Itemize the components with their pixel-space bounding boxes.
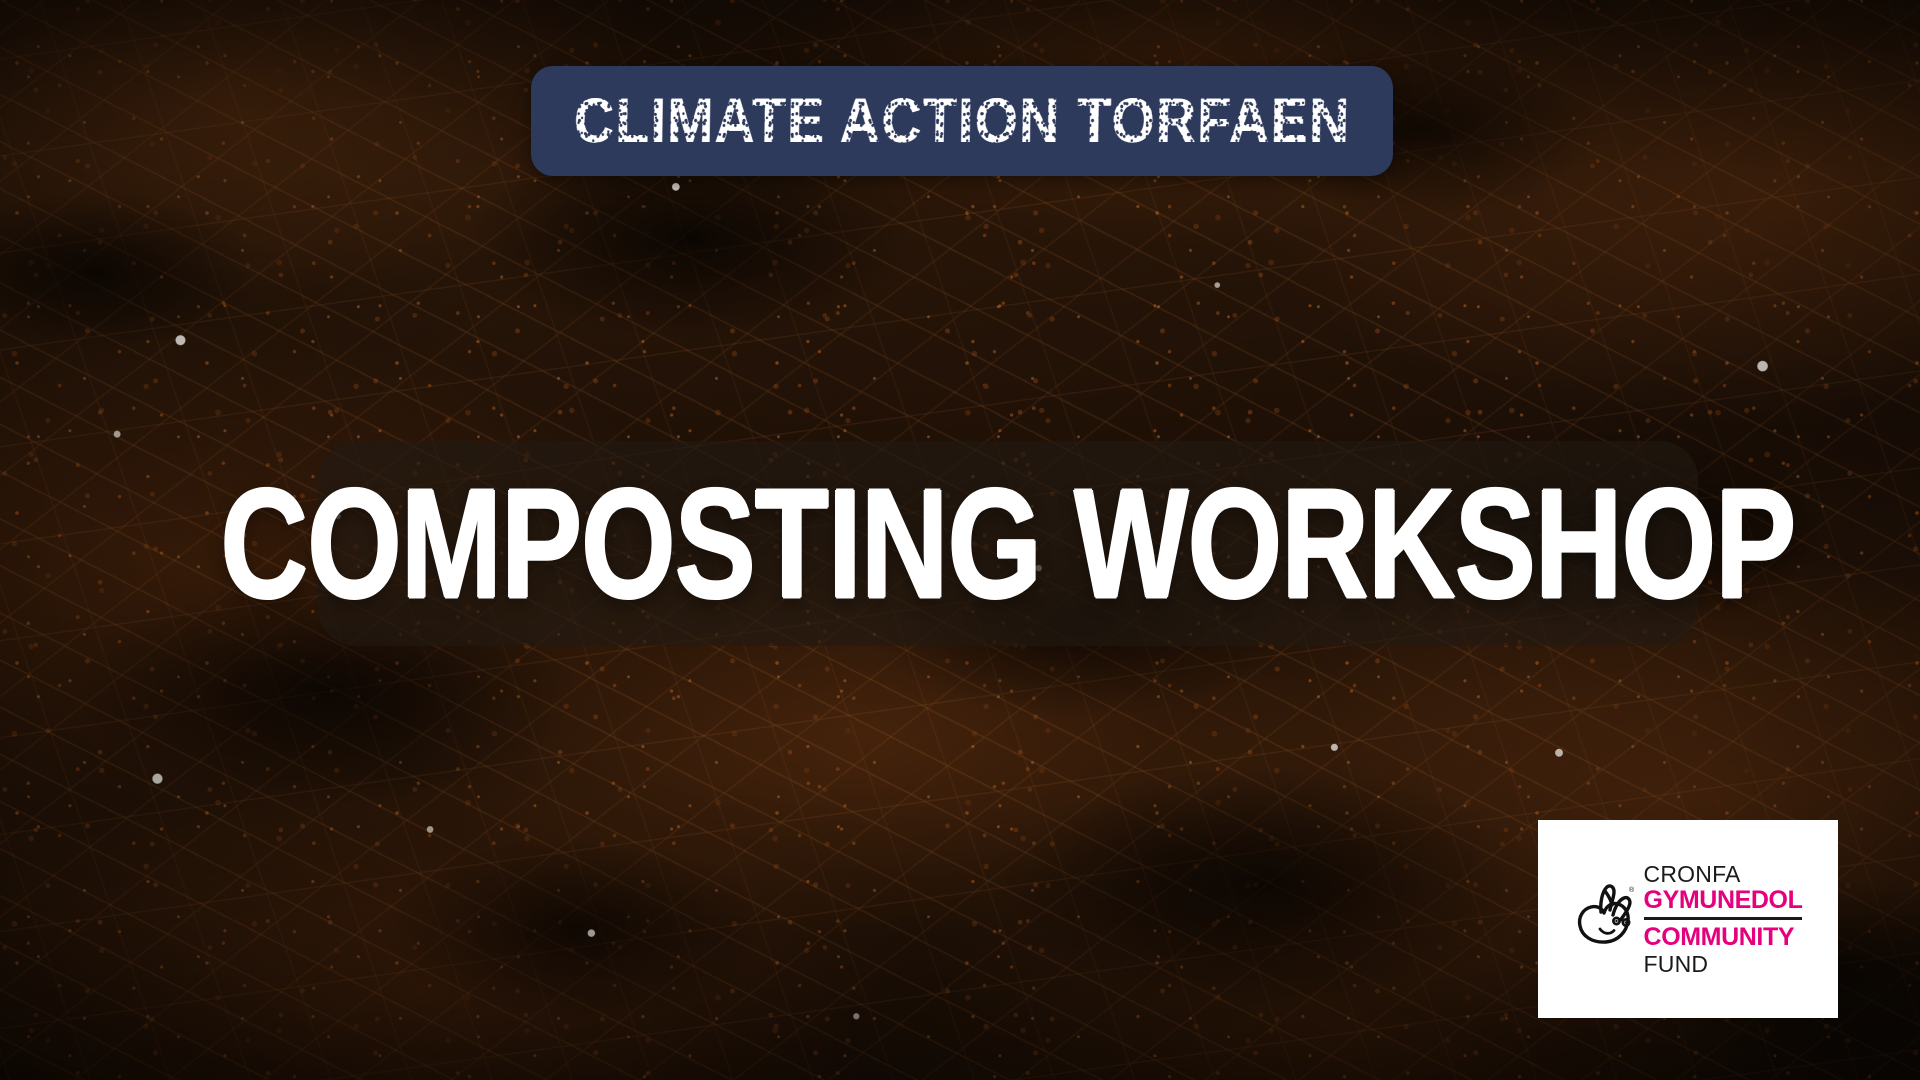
funder-line-cronfa: CRONFA [1644, 863, 1803, 886]
funder-logo: ® CRONFA GYMUNEDOL COMMUNITY FUND [1538, 820, 1838, 1018]
funder-divider-rule [1644, 917, 1803, 920]
poster-canvas: CLIMATE ACTION TORFAEN COMPOSTING WORKSH… [0, 0, 1920, 1080]
organisation-banner: CLIMATE ACTION TORFAEN [531, 66, 1393, 176]
funder-line-gymunedol: GYMUNEDOL [1644, 888, 1803, 913]
funder-line-fund: FUND [1644, 953, 1803, 976]
organisation-name: CLIMATE ACTION TORFAEN [573, 90, 1350, 153]
crossed-fingers-hand-icon: ® [1574, 882, 1636, 956]
funder-wordmark: CRONFA GYMUNEDOL COMMUNITY FUND [1644, 863, 1803, 976]
headline-title: COMPOSTING WORKSHOP [221, 466, 1796, 622]
registered-mark: ® [1629, 886, 1635, 894]
funder-line-community: COMMUNITY [1644, 925, 1803, 950]
headline-band: COMPOSTING WORKSHOP [318, 441, 1698, 646]
